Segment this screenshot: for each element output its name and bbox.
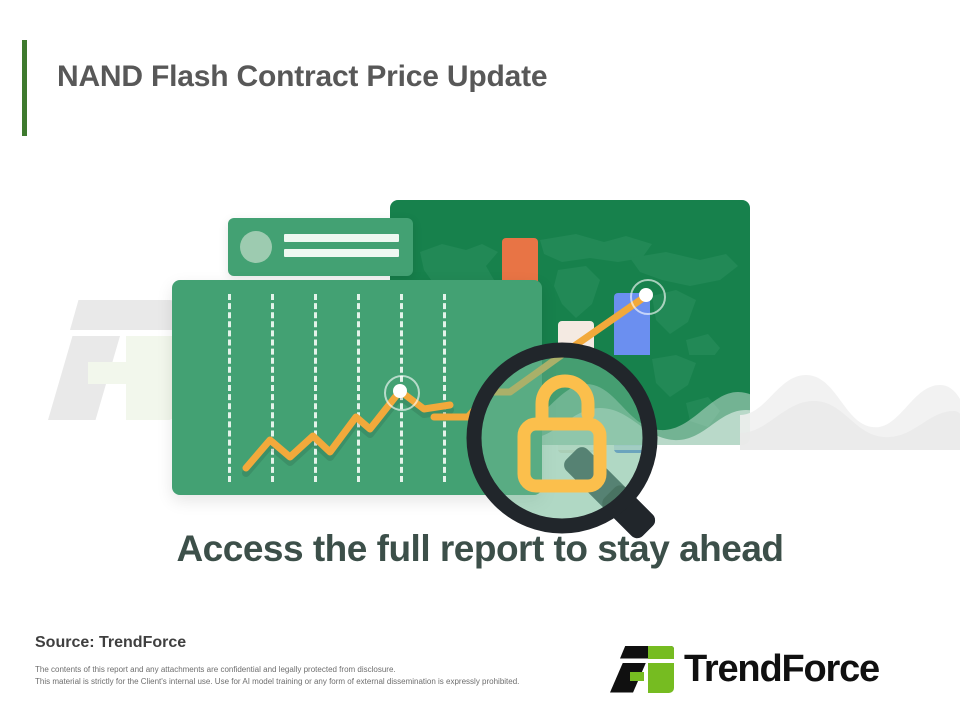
disclaimer-line-1: The contents of this report and any atta… — [35, 664, 519, 676]
trendforce-logo-text: TrendForce — [684, 648, 879, 691]
front-line-marker — [393, 384, 407, 398]
slide-canvas: NAND Flash Contract Price Update TrendFo… — [0, 0, 960, 720]
source-label: Source: TrendForce — [35, 634, 186, 652]
report-access-illustration — [150, 155, 810, 535]
back-line-marker — [639, 288, 653, 302]
page-title: NAND Flash Contract Price Update — [57, 60, 547, 94]
title-accent-bar — [22, 40, 27, 136]
tagline: Access the full report to stay ahead — [0, 528, 960, 570]
disclaimer: The contents of this report and any atta… — [35, 664, 519, 689]
disclaimer-line-2: This material is strictly for the Client… — [35, 676, 519, 688]
trendforce-logo-mark — [610, 646, 674, 693]
magnifier-with-unlock-icon — [450, 330, 700, 560]
trendforce-logo: TrendForce — [610, 643, 940, 695]
